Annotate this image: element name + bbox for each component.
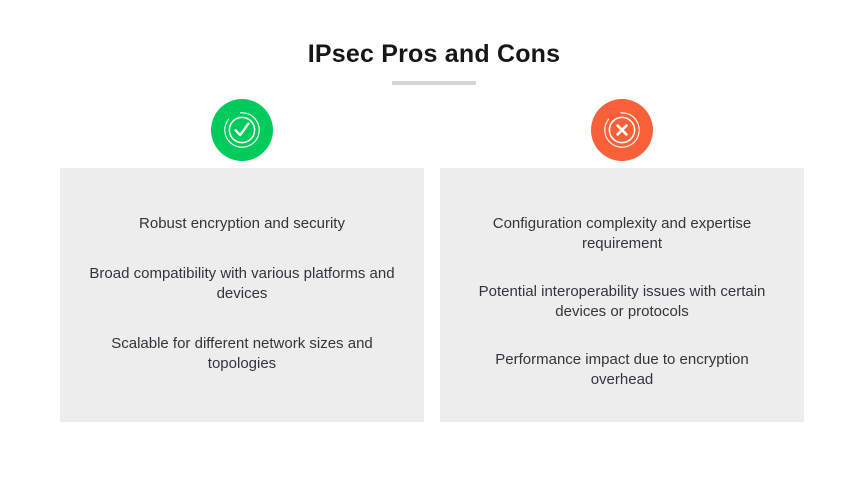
check-circle-icon	[211, 99, 273, 161]
column-cons: Cons Configuration complexity and expert…	[440, 110, 804, 422]
bullet-list-pros: Robust encryption and security Broad com…	[84, 214, 400, 374]
comparison-columns: Pros Robust encryption and security Broa…	[0, 0, 868, 488]
list-item: Performance impact due to encryption ove…	[464, 350, 780, 390]
list-item: Configuration complexity and expertise r…	[464, 214, 780, 254]
list-item: Scalable for different network sizes and…	[84, 334, 400, 374]
column-pros: Pros Robust encryption and security Broa…	[60, 110, 424, 422]
list-item: Robust encryption and security	[84, 214, 400, 234]
panel-pros: Robust encryption and security Broad com…	[60, 168, 424, 422]
slide-root: IPsec Pros and Cons Pros Robust encrypti…	[0, 0, 868, 488]
list-item: Potential interoperability issues with c…	[464, 282, 780, 322]
panel-cons: Configuration complexity and expertise r…	[440, 168, 804, 422]
x-circle-icon	[591, 99, 653, 161]
list-item: Broad compatibility with various platfor…	[84, 264, 400, 304]
bullet-list-cons: Configuration complexity and expertise r…	[464, 214, 780, 390]
